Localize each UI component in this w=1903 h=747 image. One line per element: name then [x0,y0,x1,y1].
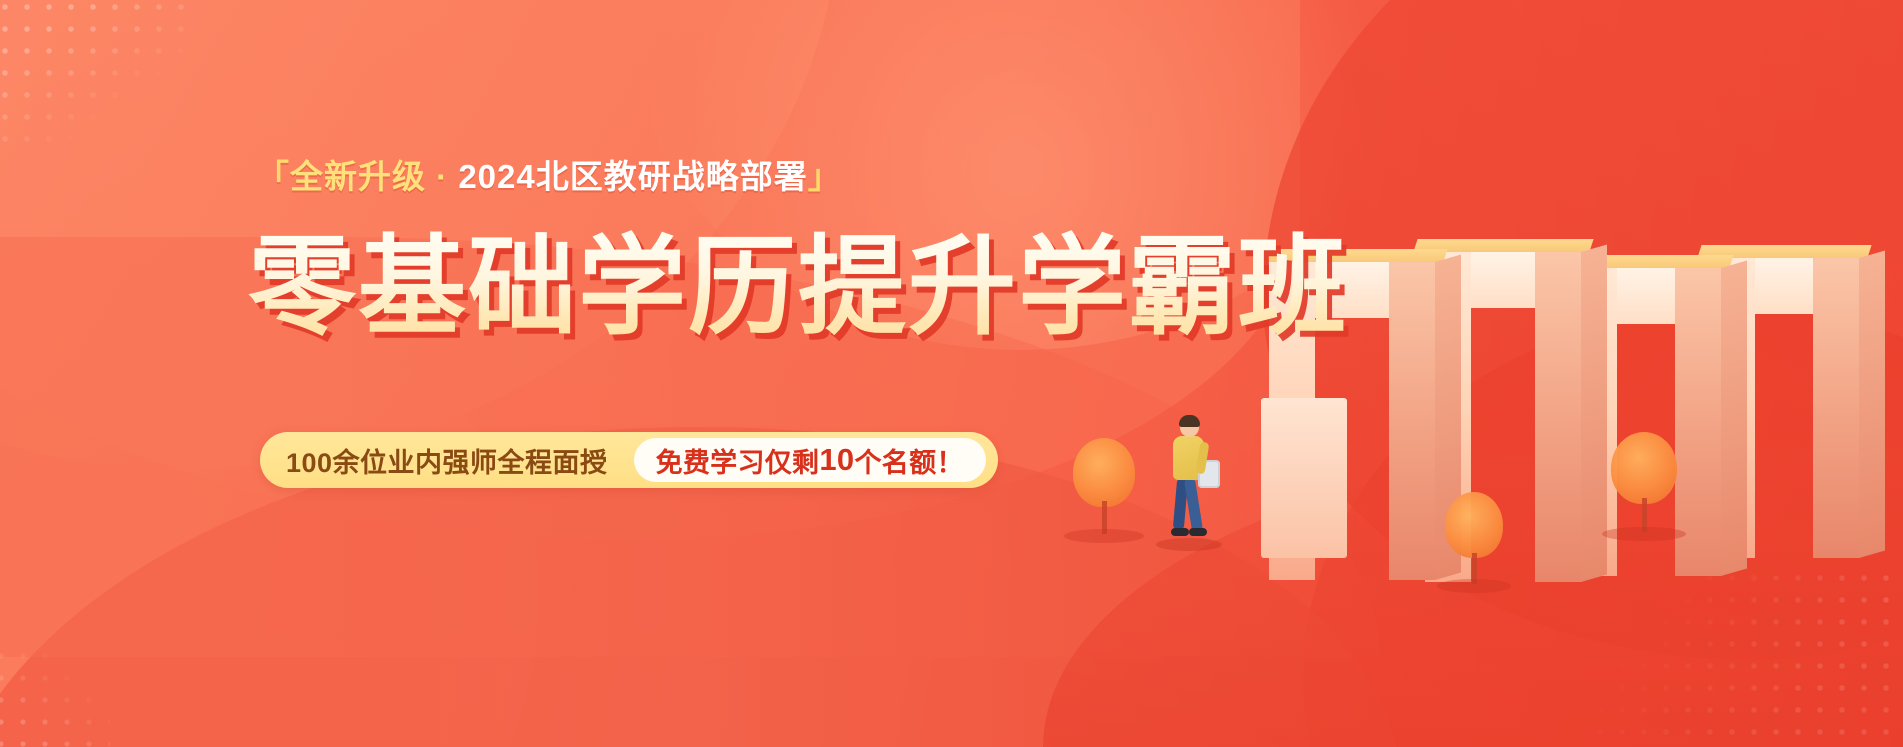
subtitle-rest: 2024北区教研战略部署 [458,158,807,195]
arch-leg-right-1 [1389,262,1435,580]
tree-crown [1445,492,1503,558]
tree-center [1445,492,1503,584]
figure-shoe-front [1189,528,1207,536]
promo-banner: 「全新升级 · 2024北区教研战略部署」 零基础学历提升学霸班 100余位业内… [0,0,1903,747]
arch-leg-right-3 [1675,268,1721,576]
offer-pill[interactable]: 100余位业内强师全程面授 免费学习仅剩10个名额！ [260,432,998,488]
tree-crown [1611,432,1677,504]
figure-hair [1179,415,1200,427]
walking-student-figure [1162,418,1218,548]
banner-headline: 零基础学历提升学霸班 [248,230,1348,343]
arch-leg-right-4 [1813,258,1859,558]
banner-subtitle: 「全新升级 · 2024北区教研战略部署」 [256,160,842,193]
text-content: 「全新升级 · 2024北区教研战略部署」 零基础学历提升学霸班 100余位业内… [0,0,1100,747]
doorway-panel [1261,398,1347,558]
tree-shadow [1437,579,1511,593]
arch-leg-right-2 [1535,252,1581,582]
tree-shadow [1602,527,1686,541]
arch-side-3 [1721,261,1747,576]
subtitle-highlight: 全新升级 [290,158,426,195]
offer-seats-count: 10 [819,442,854,478]
arch-side-4 [1859,251,1885,558]
subtitle-bracket-open: 「 [256,158,290,195]
offer-suffix: 个名额！ [854,441,963,480]
subtitle-bracket-close: 」 [808,158,842,195]
subtitle-separator: · [426,158,458,195]
illustration [1083,0,1903,747]
offer-prefix: 免费学习仅剩 [656,441,820,480]
figure-shoe-back [1171,528,1189,536]
offer-pill-left-text: 100余位业内强师全程面授 [286,441,634,480]
tree-right [1611,432,1677,532]
offer-pill-right: 免费学习仅剩10个名额！ [634,438,986,482]
figure-shadow [1156,538,1222,551]
